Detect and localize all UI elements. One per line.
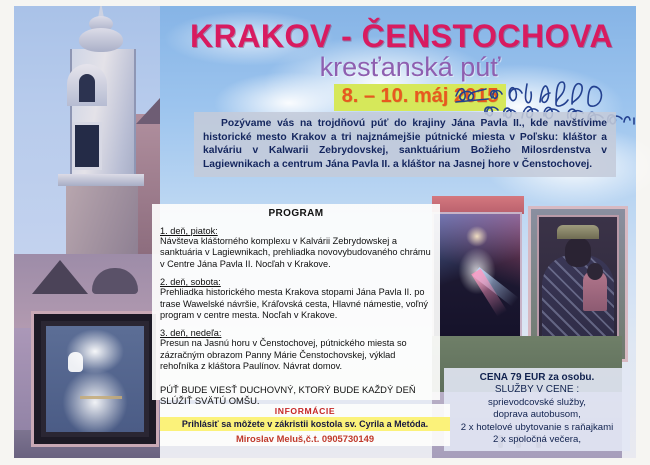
icon-panel-shape [537, 215, 619, 353]
price-service-item: 2 x spoločná večera, [447, 434, 627, 446]
price-headline: CENA 79 EUR za osobu. [447, 372, 627, 384]
madonna-face-shape [565, 237, 591, 267]
program-day-3-title: 3. deň, nedeľa: [160, 328, 432, 338]
program-day-2-title: 2. deň, sobota: [160, 277, 432, 287]
picture-frame-shape [34, 314, 156, 444]
christ-child-head-shape [587, 263, 603, 280]
price-services-label: SLUŽBY V CENE : [447, 384, 627, 396]
program-panel: PROGRAM 1. deň, piatok: Návšteva kláštor… [152, 204, 440, 400]
brick-roof-shape [136, 98, 160, 124]
tower-base-shape [66, 186, 138, 254]
program-heading: PROGRAM [160, 208, 432, 219]
information-heading: INFORMÁCIE [160, 404, 450, 416]
raised-hand-shape [68, 352, 83, 372]
lower-dome-shape [79, 28, 123, 52]
poster-date-container: 8. – 10. máj 2015 [220, 84, 620, 111]
price-service-item: doprava autobusom, [447, 409, 627, 421]
program-day-3: 3. deň, nedeľa: Presun na Jasnú horu v Č… [160, 328, 432, 372]
poster-subtitle: kresťanská púť [200, 52, 620, 83]
wawel-cathedral-tower-photo [14, 6, 160, 254]
belfry-arch-shape [79, 74, 95, 102]
cornice-shape [58, 174, 144, 186]
intro-paragraph-text: Pozývame vás na trojdňovú púť do krajiny… [203, 117, 607, 171]
information-box: INFORMÁCIE Prihlásiť sa môžete v zákrist… [160, 404, 450, 446]
background-dome-shape [92, 268, 138, 294]
price-service-item: sprievodcovské služby, [447, 397, 627, 409]
pope-john-paul-ii-framed-photo [14, 254, 160, 458]
poster-page: KRAKOV - ČENSTOCHOVA kresťanská púť 8. –… [0, 0, 650, 465]
price-box: CENA 79 EUR za osobu. SLUŽBY V CENE : sp… [444, 368, 630, 451]
poster-date-badge: 8. – 10. máj 2015 [334, 84, 507, 111]
program-day-1-body: Návšteva kláštorného komplexu v Kalvárii… [160, 236, 432, 270]
program-day-3-body: Presun na Jasnú horu v Čenstochovej, pút… [160, 338, 432, 372]
madonna-crown-shape [557, 225, 599, 239]
background-roof-shape [32, 260, 88, 294]
tower-window-shape [72, 122, 102, 170]
program-day-1: 1. deň, piatok: Návšteva kláštorného kom… [160, 226, 432, 270]
intro-paragraph-box: Pozývame vás na trojdňovú púť do krajiny… [194, 112, 616, 177]
price-service-item: 2 x hotelové ubytovanie s raňajkami [447, 422, 627, 434]
information-contact: Miroslav Meluš,č.t. 0905730149 [160, 431, 450, 444]
tower-cupola-shape [60, 14, 142, 70]
sash-shape [80, 396, 122, 399]
pope-figure-shape [46, 326, 144, 432]
program-day-2-body: Prehliadka historického mesta Krakova st… [160, 287, 432, 321]
program-day-1-title: 1. deň, piatok: [160, 226, 432, 236]
information-signup-line: Prihlásiť sa môžete v zákristii kostola … [160, 417, 450, 431]
program-day-2: 2. deň, sobota: Prehliadka historického … [160, 277, 432, 321]
divine-mercy-figure-shape [434, 214, 520, 338]
poster-title: KRAKOV - ČENSTOCHOVA [190, 18, 610, 55]
divine-mercy-image-photo [432, 212, 522, 340]
belfry-shape [67, 64, 107, 106]
